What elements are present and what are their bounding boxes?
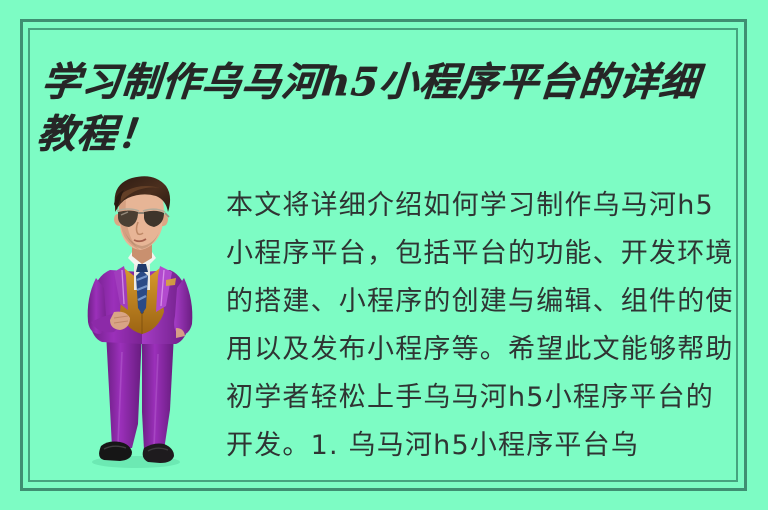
trouser-right bbox=[142, 332, 174, 450]
poster-canvas: 学习制作乌马河h5小程序平台的详细教程！ bbox=[0, 0, 768, 510]
trouser-left bbox=[106, 332, 142, 448]
shoe-right bbox=[143, 444, 174, 464]
tie-knot bbox=[136, 264, 148, 272]
illustration-cartoon-man bbox=[58, 172, 218, 470]
page-title: 学习制作乌马河h5小程序平台的详细教程！ bbox=[35, 56, 734, 160]
article-body: 本文将详细介绍如何学习制作乌马河h5小程序平台，包括平台的功能、开发环境的搭建、… bbox=[226, 182, 738, 470]
